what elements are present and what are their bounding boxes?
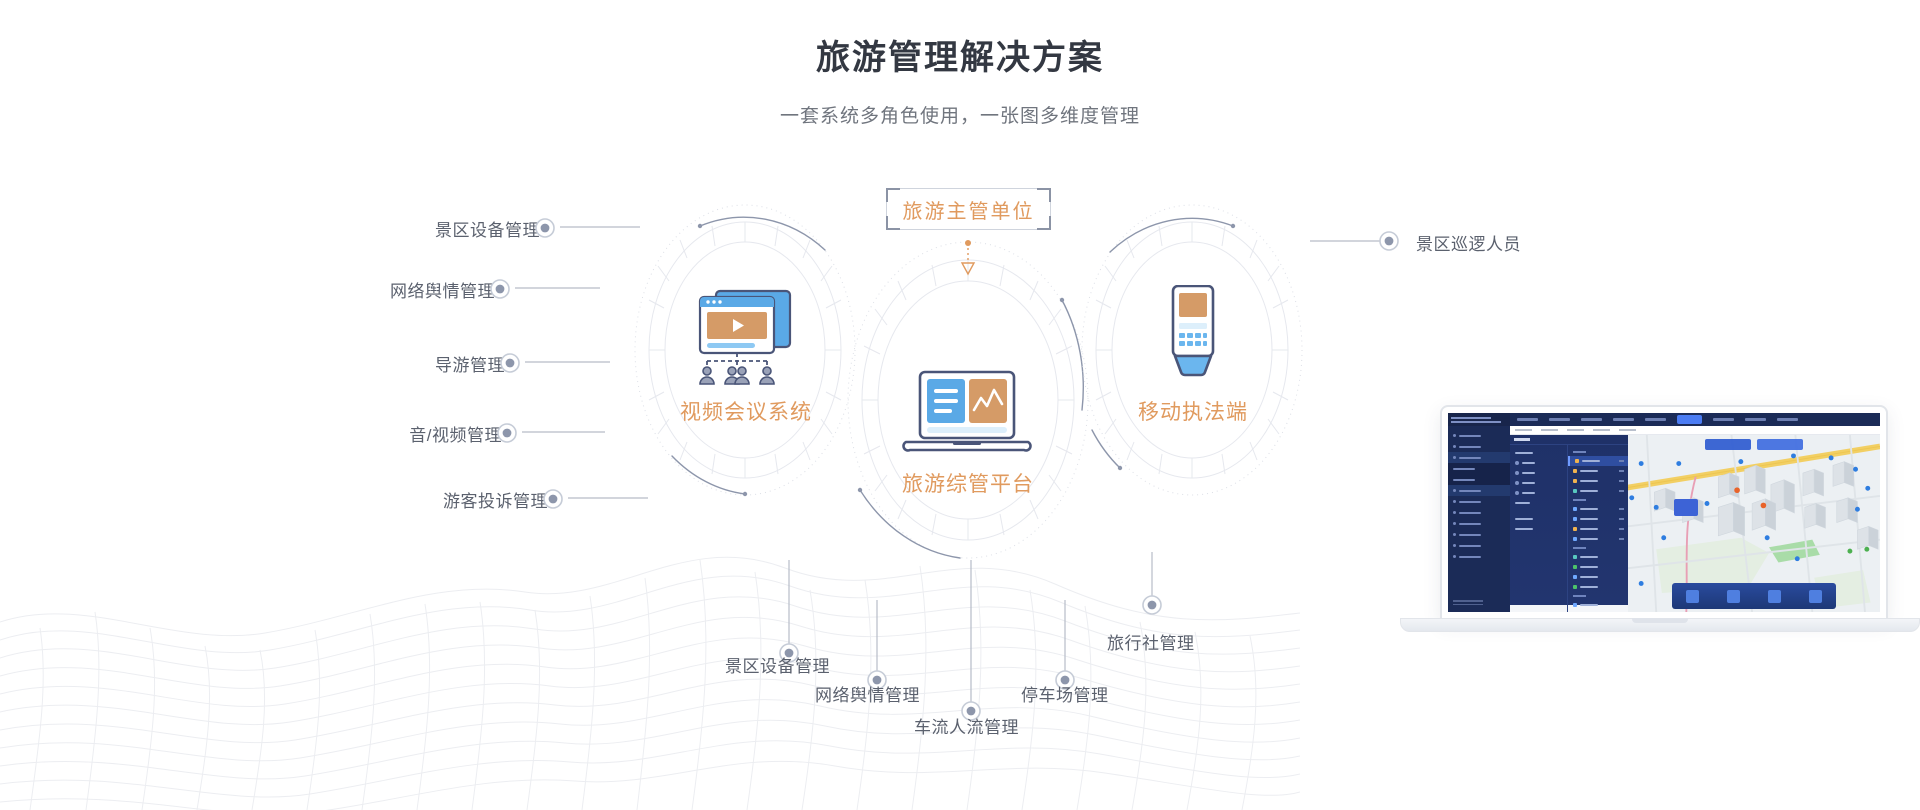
bottom-label-0[interactable]: 景区设备管理: [725, 652, 830, 677]
mockup-sidebar-item-3[interactable]: [1448, 485, 1510, 496]
page-root: 旅游管理解决方案 一套系统多角色使用，一张图多维度管理: [0, 0, 1920, 810]
mockup-tree-node-0[interactable]: [1510, 448, 1567, 458]
mockup-panel-list[interactable]: [1567, 445, 1628, 612]
mockup-panel-tree[interactable]: [1510, 445, 1567, 612]
mockup-nav-item-active[interactable]: [1677, 415, 1702, 424]
node-label-video: 视频会议系统: [678, 396, 814, 426]
mockup-dock-item-0[interactable]: [1686, 590, 1699, 603]
laptop-notch: [1632, 618, 1688, 623]
handheld-terminal-icon: [1160, 285, 1226, 390]
mockup-list-item-3[interactable]: [1568, 486, 1628, 496]
mockup-sidebar[interactable]: [1448, 426, 1510, 612]
mockup-brand-logo: [1448, 413, 1510, 426]
bottom-label-1[interactable]: 网络舆情管理: [815, 681, 920, 706]
bottom-label-4[interactable]: 旅行社管理: [1107, 629, 1195, 654]
mockup-tree-node-2[interactable]: [1510, 524, 1567, 534]
mockup-nav-item-7[interactable]: [1777, 418, 1798, 421]
mockup-dock-item-1[interactable]: [1727, 590, 1740, 603]
mockup-list-group-1: [1568, 496, 1628, 504]
laptop-mockup: [1400, 405, 1920, 645]
mockup-tab-2[interactable]: [1567, 429, 1584, 431]
mockup-tab-0[interactable]: [1515, 429, 1532, 431]
supervisor-box[interactable]: 旅游主管单位: [886, 188, 1051, 230]
mockup-list-item-4[interactable]: [1568, 504, 1628, 514]
mockup-map-canvas[interactable]: [1628, 435, 1880, 612]
bullet-dot-left-0: [534, 217, 556, 239]
mockup-sidebar-item-6[interactable]: [1448, 518, 1510, 529]
mockup-list-item-13[interactable]: [1568, 610, 1628, 612]
mockup-sidebar-subitem-0[interactable]: [1448, 463, 1510, 474]
mockup-sidebar-subitem-1[interactable]: [1448, 474, 1510, 485]
bullet-dot-left-3: [496, 422, 518, 444]
mockup-list-item-9[interactable]: [1568, 562, 1628, 572]
mockup-tree-leaf-1[interactable]: [1510, 468, 1567, 478]
bullet-dot-left-1: [489, 278, 511, 300]
mockup-tree-leaf-3[interactable]: [1510, 488, 1567, 498]
mockup-list-item-6[interactable]: [1568, 524, 1628, 534]
mockup-sidebar-item-9[interactable]: [1448, 551, 1510, 562]
bullet-dot-left-2: [499, 352, 521, 374]
mockup-sidebar-item-2[interactable]: [1448, 452, 1510, 463]
mockup-map-toolbar[interactable]: [1705, 439, 1803, 450]
left-label-4[interactable]: 游客投诉管理: [348, 487, 548, 512]
mockup-panel-header: [1510, 435, 1628, 445]
mockup-list-item-5[interactable]: [1568, 514, 1628, 524]
mockup-tree-node-1[interactable]: [1510, 514, 1567, 524]
mockup-tab-4[interactable]: [1619, 429, 1636, 431]
laptop-dashboard-icon: [898, 370, 1036, 465]
mockup-sidebar-item-5[interactable]: [1448, 507, 1510, 518]
right-label-0[interactable]: 景区巡逻人员: [1416, 230, 1521, 255]
bullet-dot-left-4: [542, 488, 564, 510]
mockup-list-item-11[interactable]: [1568, 582, 1628, 592]
mockup-nav-item-6[interactable]: [1745, 418, 1766, 421]
mockup-tree-leaf-0[interactable]: [1510, 458, 1567, 468]
mockup-list-group-3: [1568, 592, 1628, 600]
left-label-1[interactable]: 网络舆情管理: [295, 277, 495, 302]
mockup-tree-leaf-2[interactable]: [1510, 478, 1567, 488]
mockup-list-item-0[interactable]: [1568, 456, 1628, 466]
app-screenshot[interactable]: [1448, 413, 1880, 612]
mockup-nav-items[interactable]: [1510, 415, 1798, 424]
mockup-panel-columns: [1510, 445, 1628, 612]
mockup-list-item-12[interactable]: [1568, 600, 1628, 610]
mockup-dock-item-3[interactable]: [1809, 590, 1822, 603]
mockup-top-nav[interactable]: [1448, 413, 1880, 426]
mockup-map-bottom-dock[interactable]: [1672, 583, 1836, 609]
laptop-screen-bezel: [1440, 405, 1888, 620]
node-label-platform: 旅游综管平台: [890, 468, 1046, 498]
mockup-list-item-10[interactable]: [1568, 572, 1628, 582]
mockup-sidebar-item-1[interactable]: [1448, 441, 1510, 452]
bottom-label-2[interactable]: 车流人流管理: [914, 713, 1019, 738]
mockup-tab-3[interactable]: [1593, 429, 1610, 431]
mockup-layer-panel[interactable]: [1510, 435, 1628, 605]
mockup-list-item-2[interactable]: [1568, 476, 1628, 486]
mockup-nav-item-3[interactable]: [1645, 418, 1666, 421]
mockup-map-view-button[interactable]: [1757, 439, 1803, 450]
mockup-tab-strip[interactable]: [1510, 426, 1880, 435]
bottom-label-3[interactable]: 停车场管理: [1021, 681, 1109, 706]
left-label-3[interactable]: 音/视频管理: [302, 421, 502, 446]
mockup-nav-hamburger-icon[interactable]: [1517, 418, 1538, 421]
mockup-dock-item-2[interactable]: [1768, 590, 1781, 603]
supervisor-label: 旅游主管单位: [886, 188, 1051, 230]
mockup-nav-item-5[interactable]: [1713, 418, 1734, 421]
mockup-sidebar-item-0[interactable]: [1448, 430, 1510, 441]
mockup-map-info-card[interactable]: [1674, 499, 1698, 516]
bullet-dot-bottom-4: [1141, 594, 1163, 616]
video-window-icon: [690, 285, 802, 390]
mockup-map-basemap-select[interactable]: [1705, 439, 1751, 450]
mockup-list-group-0: [1568, 448, 1628, 456]
mockup-list-group-2: [1568, 544, 1628, 552]
mockup-sidebar-item-7[interactable]: [1448, 529, 1510, 540]
mockup-nav-item-2[interactable]: [1613, 418, 1634, 421]
mockup-nav-item-0[interactable]: [1549, 418, 1570, 421]
mockup-list-item-7[interactable]: [1568, 534, 1628, 544]
left-label-2[interactable]: 导游管理: [305, 351, 505, 376]
mockup-tab-1[interactable]: [1541, 429, 1558, 431]
node-label-mobile: 移动执法端: [1118, 396, 1268, 426]
mockup-list-item-8[interactable]: [1568, 552, 1628, 562]
mockup-sidebar-item-8[interactable]: [1448, 540, 1510, 551]
mockup-tree-leaf-4[interactable]: [1510, 498, 1567, 508]
mockup-list-item-1[interactable]: [1568, 466, 1628, 476]
left-leader-lines: [515, 227, 648, 498]
bullet-dot-right-0: [1378, 230, 1400, 252]
mockup-sidebar-footer: [1453, 598, 1483, 607]
mockup-nav-item-1[interactable]: [1581, 418, 1602, 421]
mockup-sidebar-item-4[interactable]: [1448, 496, 1510, 507]
left-label-0[interactable]: 景区设备管理: [340, 216, 540, 241]
